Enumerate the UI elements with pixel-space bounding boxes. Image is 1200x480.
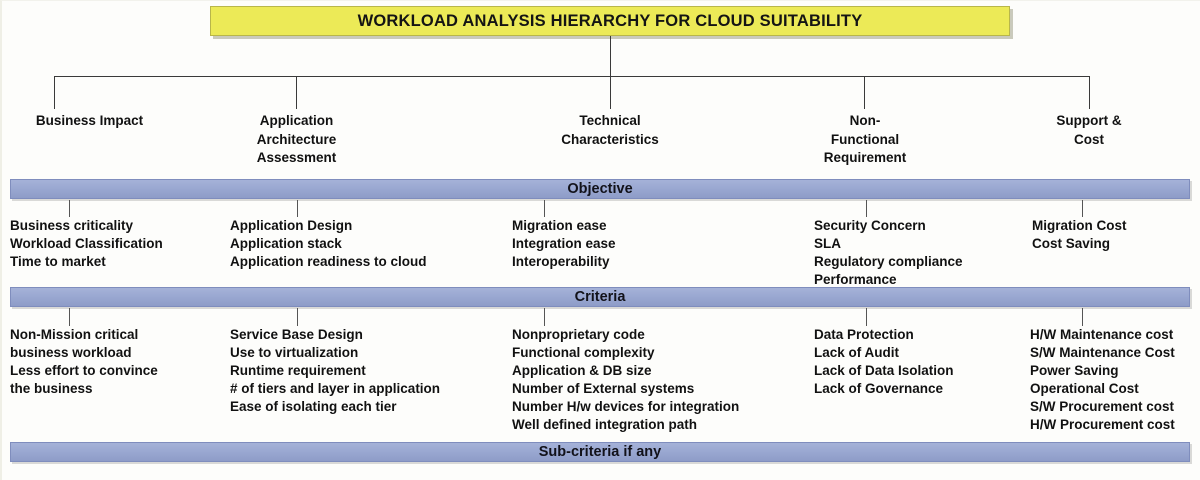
branch-head-1-line-1: Business Impact: [2, 112, 177, 131]
branch-head-4-line-2: Functional: [791, 131, 939, 150]
objective-item: SLA: [814, 235, 963, 253]
branch-head-5-line-2: Cost: [1015, 131, 1163, 150]
diagram-canvas: WORKLOAD ANALYSIS HIERARCHY FOR CLOUD SU…: [0, 0, 1200, 480]
criteria-tick-5: [1082, 308, 1083, 326]
branch-head-1: Business Impact: [2, 112, 177, 131]
tree-root-stem: [610, 36, 611, 76]
criteria-item: Operational Cost: [1030, 380, 1175, 398]
branch-head-2-line-1: Application: [224, 112, 369, 131]
objective-list-3: Migration ease Integration ease Interope…: [512, 217, 616, 271]
criteria-list-1: Non-Mission critical business workload L…: [10, 326, 158, 398]
page-title: WORKLOAD ANALYSIS HIERARCHY FOR CLOUD SU…: [358, 12, 863, 31]
tree-branch-drop-5: [1089, 76, 1090, 109]
criteria-tick-3: [544, 308, 545, 326]
criteria-item: Well defined integration path: [512, 416, 739, 434]
criteria-item: Ease of isolating each tier: [230, 398, 440, 416]
objective-item: Security Concern: [814, 217, 963, 235]
tree-horizontal-bus: [54, 76, 1090, 77]
criteria-item: H/W Maintenance cost: [1030, 326, 1175, 344]
criteria-item: S/W Maintenance Cost: [1030, 344, 1175, 362]
tree-branch-drop-4: [864, 76, 865, 109]
criteria-item: Runtime requirement: [230, 362, 440, 380]
objective-item: Migration ease: [512, 217, 616, 235]
objective-item: Business criticality: [10, 217, 163, 235]
band-subcriteria-label: Sub-criteria if any: [539, 444, 661, 460]
objective-tick-4: [866, 200, 867, 217]
branch-head-4-line-3: Requirement: [791, 149, 939, 168]
objective-item: Application Design: [230, 217, 427, 235]
objective-tick-3: [544, 200, 545, 217]
criteria-item: H/W Procurement cost: [1030, 416, 1175, 434]
criteria-item: Use to virtualization: [230, 344, 440, 362]
tree-branch-drop-1: [54, 76, 55, 109]
diagram-title-box: WORKLOAD ANALYSIS HIERARCHY FOR CLOUD SU…: [210, 6, 1010, 36]
band-subcriteria: Sub-criteria if any: [10, 442, 1190, 462]
objective-list-4: Security Concern SLA Regulatory complian…: [814, 217, 963, 289]
criteria-item: Application & DB size: [512, 362, 739, 380]
criteria-item: Service Base Design: [230, 326, 440, 344]
band-objective: Objective: [10, 179, 1190, 199]
branch-head-4-line-1: Non-: [791, 112, 939, 131]
objective-item: Regulatory compliance: [814, 253, 963, 271]
objective-item: Migration Cost: [1032, 217, 1127, 235]
objective-list-1: Business criticality Workload Classifica…: [10, 217, 163, 271]
objective-item: Interoperability: [512, 253, 616, 271]
tree-branch-drop-2: [296, 76, 297, 109]
criteria-item: Functional complexity: [512, 344, 739, 362]
objective-item: Integration ease: [512, 235, 616, 253]
criteria-list-5: H/W Maintenance cost S/W Maintenance Cos…: [1030, 326, 1175, 434]
branch-head-3: Technical Characteristics: [505, 112, 715, 149]
criteria-item: # of tiers and layer in application: [230, 380, 440, 398]
branch-head-5: Support & Cost: [1015, 112, 1163, 149]
branch-head-3-line-2: Characteristics: [505, 131, 715, 150]
branch-head-4: Non- Functional Requirement: [791, 112, 939, 168]
criteria-item: Lack of Data Isolation: [814, 362, 954, 380]
criteria-tick-1: [69, 308, 70, 326]
branch-head-2: Application Architecture Assessment: [224, 112, 369, 168]
criteria-tick-4: [866, 308, 867, 326]
criteria-list-2: Service Base Design Use to virtualizatio…: [230, 326, 440, 416]
objective-item: Time to market: [10, 253, 163, 271]
criteria-list-3: Nonproprietary code Functional complexit…: [512, 326, 739, 434]
criteria-item: Power Saving: [1030, 362, 1175, 380]
branch-head-2-line-2: Architecture: [224, 131, 369, 150]
tree-branch-drop-3: [610, 76, 611, 109]
criteria-item: Number H/w devices for integration: [512, 398, 739, 416]
objective-tick-5: [1082, 200, 1083, 217]
criteria-item: Less effort to convince: [10, 362, 158, 380]
criteria-item: S/W Procurement cost: [1030, 398, 1175, 416]
branch-head-5-line-1: Support &: [1015, 112, 1163, 131]
criteria-item: Lack of Governance: [814, 380, 954, 398]
band-criteria: Criteria: [10, 287, 1190, 307]
objective-item: Workload Classification: [10, 235, 163, 253]
criteria-item: Data Protection: [814, 326, 954, 344]
criteria-item: business workload: [10, 344, 158, 362]
criteria-item: Nonproprietary code: [512, 326, 739, 344]
criteria-item: Lack of Audit: [814, 344, 954, 362]
criteria-tick-2: [297, 308, 298, 326]
objective-item: Cost Saving: [1032, 235, 1127, 253]
objective-list-2: Application Design Application stack App…: [230, 217, 427, 271]
criteria-list-4: Data Protection Lack of Audit Lack of Da…: [814, 326, 954, 398]
objective-tick-1: [69, 200, 70, 217]
objective-list-5: Migration Cost Cost Saving: [1032, 217, 1127, 253]
criteria-item: Non-Mission critical: [10, 326, 158, 344]
criteria-item: the business: [10, 380, 158, 398]
branch-head-2-line-3: Assessment: [224, 149, 369, 168]
band-objective-label: Objective: [567, 181, 632, 197]
branch-head-3-line-1: Technical: [505, 112, 715, 131]
criteria-item: Number of External systems: [512, 380, 739, 398]
objective-item: Application stack: [230, 235, 427, 253]
band-criteria-label: Criteria: [575, 289, 626, 305]
objective-tick-2: [297, 200, 298, 217]
objective-item: Application readiness to cloud: [230, 253, 427, 271]
